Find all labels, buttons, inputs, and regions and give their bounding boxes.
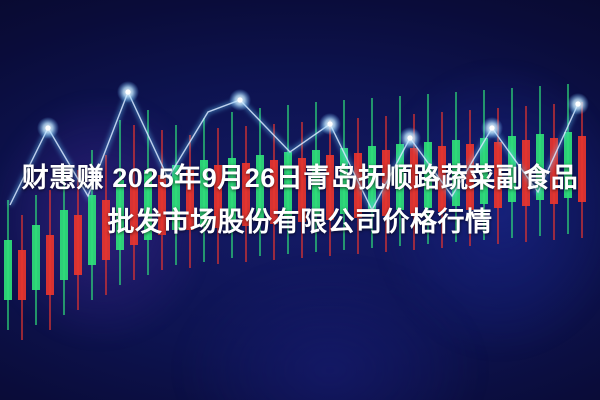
wallpaper-canvas: 财惠赚 2025年9月26日青岛抚顺路蔬菜副食品 批发市场股份有限公司价格行情: [0, 0, 600, 400]
glow-node-dot: [45, 125, 50, 130]
candle-body: [326, 155, 334, 220]
glow-node-dot: [237, 97, 242, 102]
candle-body: [144, 170, 152, 240]
candle-body: [4, 240, 12, 300]
candle-body: [32, 225, 40, 290]
candle-body: [172, 165, 180, 230]
candle-body: [242, 163, 250, 226]
candle-body: [256, 155, 264, 220]
candle-body: [298, 158, 306, 222]
glow-node-dot: [575, 101, 580, 106]
candle-body: [18, 250, 26, 300]
candle-body: [466, 144, 474, 210]
candle-body: [200, 160, 208, 225]
candle-body: [508, 136, 516, 202]
candle-body: [158, 175, 166, 235]
candlestick-chart: [0, 0, 600, 400]
glow-node-dot: [407, 135, 412, 140]
candle-body: [284, 152, 292, 218]
candle-body: [102, 200, 110, 260]
candle-body: [60, 210, 68, 280]
candle-body: [186, 170, 194, 230]
candle-body: [424, 142, 432, 208]
candle-body: [116, 180, 124, 250]
candle-body: [228, 158, 236, 222]
candle-body: [312, 150, 320, 216]
candle-body: [74, 215, 82, 275]
candle-body: [130, 185, 138, 245]
trend-polyline-group: [10, 92, 578, 210]
candle-body: [564, 132, 572, 198]
candle-body: [270, 160, 278, 224]
candle-body: [214, 165, 222, 228]
glow-node-dot: [125, 89, 130, 94]
trend-line-glow: [10, 92, 578, 210]
glow-node-dot: [489, 125, 494, 130]
candle-body: [88, 195, 96, 265]
candle-body: [46, 235, 54, 295]
glow-node-dot: [327, 121, 332, 126]
candle-body: [410, 148, 418, 214]
candle-body: [578, 136, 586, 202]
candle-body: [494, 142, 502, 208]
